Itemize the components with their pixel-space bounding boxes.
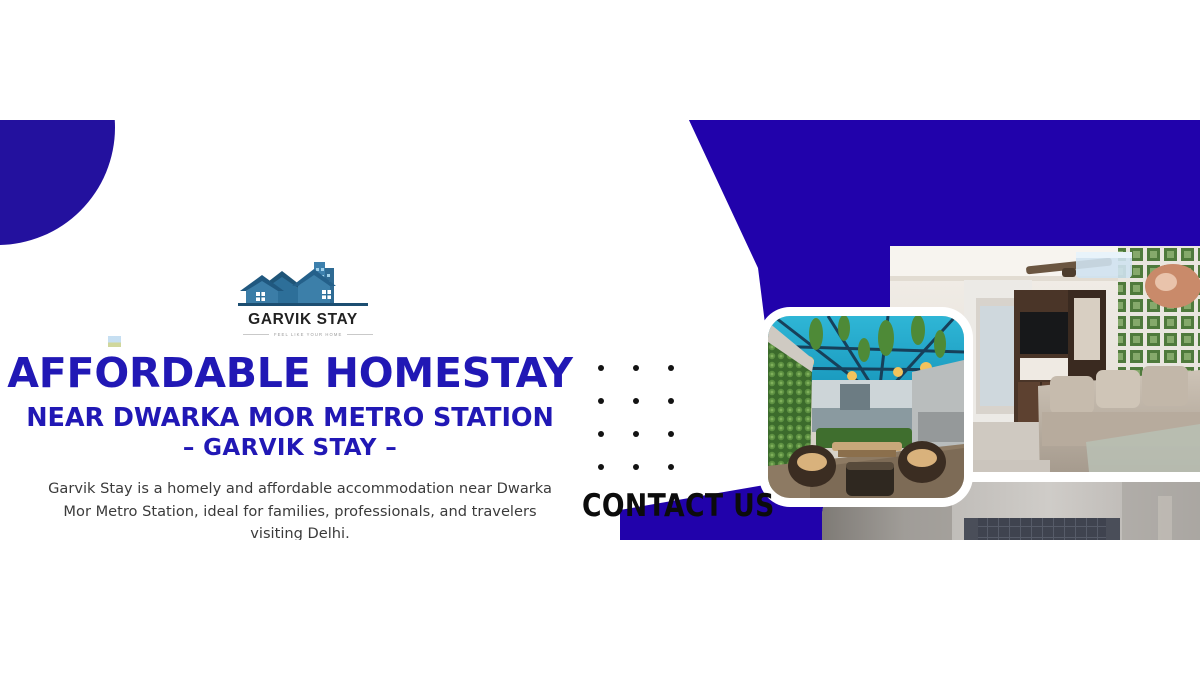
headline-line-1: AFFORDABLE HOMESTAY <box>0 353 580 394</box>
headline-line-2: NEAR DWARKA MOR METRO STATION <box>0 406 580 432</box>
terrace-lounge-photo <box>768 316 964 498</box>
logo-wordmark: GARVIK STAY <box>238 311 368 329</box>
dot-grid-decor <box>598 365 674 469</box>
house-skyline-icon <box>238 260 368 310</box>
headline-line-3: – GARVIK STAY – <box>0 437 580 460</box>
brand-logo: GARVIK STAY FEEL LIKE YOUR HOME <box>238 260 368 337</box>
banner-canvas: GARVIK STAY FEEL LIKE YOUR HOME AFFORDAB… <box>0 0 1200 675</box>
small-decor-mark <box>108 336 121 347</box>
contact-us-title: CONTACT US <box>582 491 775 522</box>
blue-circle-decor <box>0 120 115 245</box>
logo-tagline: FEEL LIKE YOUR HOME <box>238 332 368 337</box>
description-paragraph: Garvik Stay is a homely and affordable a… <box>42 478 558 540</box>
promo-banner: GARVIK STAY FEEL LIKE YOUR HOME AFFORDAB… <box>0 120 1200 540</box>
